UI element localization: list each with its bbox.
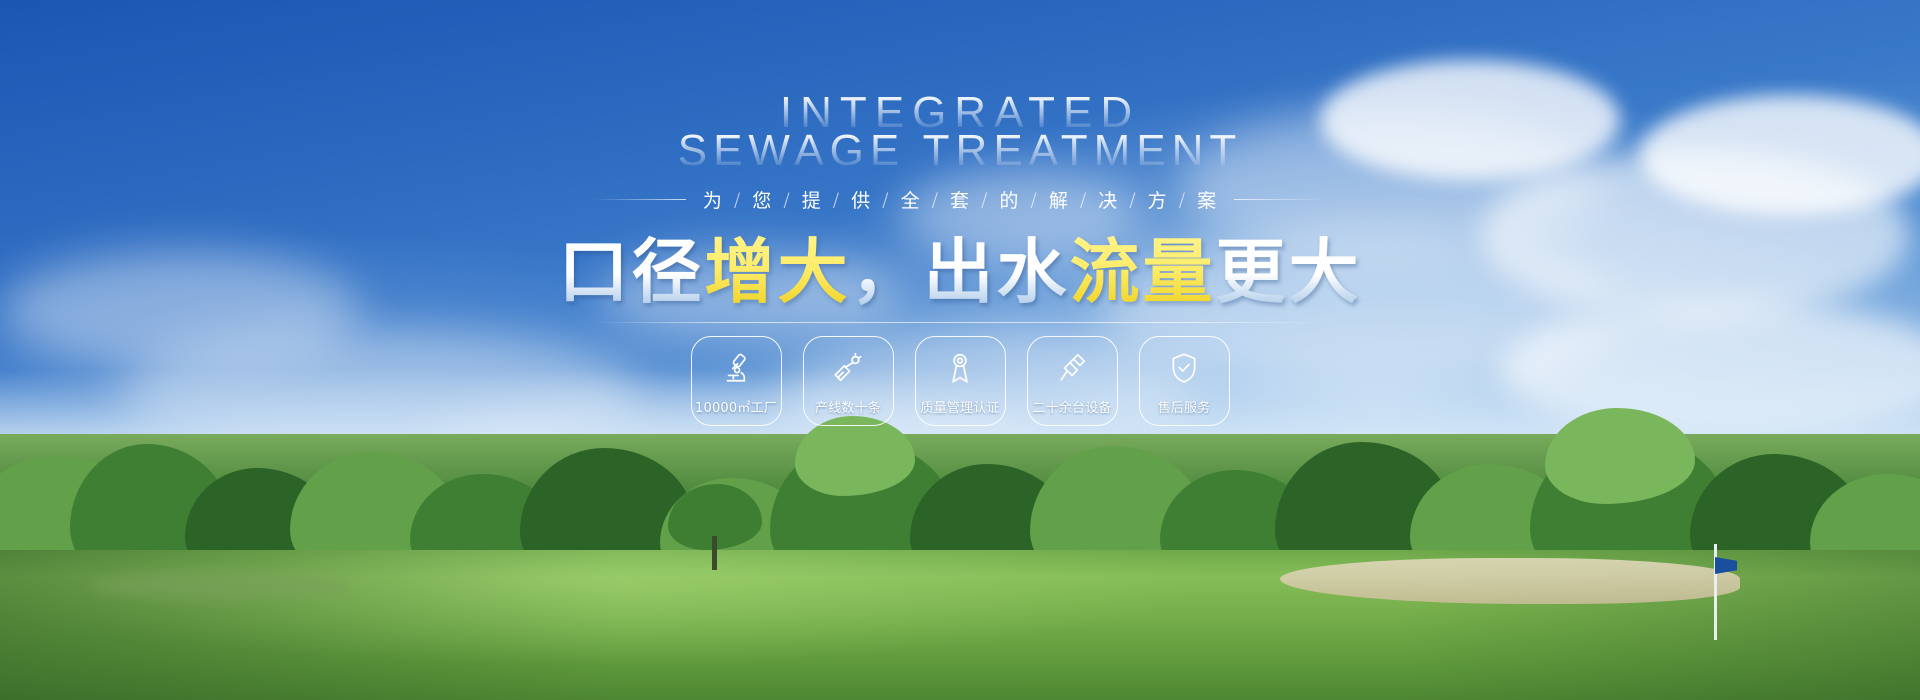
tagline-rule-left [594, 199, 686, 200]
headline-segment: 增大 [705, 235, 851, 309]
wrench-tool-icon [1055, 351, 1089, 385]
tagline-separator: / [981, 189, 988, 211]
tagline-char: 案 [1186, 186, 1228, 213]
hero-copy: INTEGRATED SEWAGE TREATMENT 为/您/提/供/全/套/… [0, 92, 1920, 323]
lone-tree-trunk [712, 536, 717, 570]
headline-segment: 出水 [924, 235, 1070, 309]
tagline-separator: / [734, 189, 741, 211]
headline-underline-rule [595, 322, 1325, 323]
feature-badge[interactable]: 质量管理认证 [915, 336, 1006, 426]
lawn-highlight [90, 572, 350, 600]
slash-tagline: 为/您/提/供/全/套/的/解/决/方/案 [594, 186, 1326, 213]
feature-badge[interactable]: 产线数十条 [803, 336, 894, 426]
feature-badge[interactable]: 10000㎡工厂 [691, 336, 782, 426]
tagline-separator: / [1129, 189, 1136, 211]
feature-badge-label: 二十余台设备 [1032, 397, 1111, 416]
tagline-separator: / [833, 189, 840, 211]
microscope-icon [719, 351, 753, 385]
tagline-char: 您 [741, 186, 783, 213]
slash-tagline-text: 为/您/提/供/全/套/的/解/决/方/案 [686, 186, 1234, 213]
page-title: 口径增大，出水流量更大 [559, 235, 1362, 309]
tagline-char: 方 [1137, 186, 1179, 213]
production-line-icon [831, 351, 865, 385]
tagline-char: 全 [890, 186, 932, 213]
tagline-char: 提 [791, 186, 833, 213]
certificate-medal-icon [943, 351, 977, 385]
tagline-char: 解 [1038, 186, 1080, 213]
lawn-shadow-left [0, 550, 620, 700]
tagline-char: 为 [692, 186, 734, 213]
tagline-rule-right [1234, 199, 1326, 200]
tagline-separator: / [1179, 189, 1186, 211]
hero-banner: INTEGRATED SEWAGE TREATMENT 为/您/提/供/全/套/… [0, 0, 1920, 700]
tagline-separator: / [1080, 189, 1087, 211]
feature-badge-label: 质量管理认证 [920, 397, 999, 416]
feature-badge-label: 产线数十条 [815, 397, 881, 416]
feature-badge-list: 10000㎡工厂产线数十条质量管理认证二十余台设备售后服务 [0, 336, 1920, 426]
tagline-char: 的 [988, 186, 1030, 213]
english-heading-line2: SEWAGE TREATMENT [678, 130, 1243, 172]
shield-check-icon [1167, 351, 1201, 385]
headline-segment: 口径 [559, 235, 705, 309]
tagline-char: 套 [939, 186, 981, 213]
feature-badge[interactable]: 售后服务 [1139, 336, 1230, 426]
tagline-char: 供 [840, 186, 882, 213]
feature-badge[interactable]: 二十余台设备 [1027, 336, 1118, 426]
tagline-separator: / [932, 189, 939, 211]
headline-segment: 流量 [1070, 235, 1216, 309]
tagline-separator: / [1030, 189, 1037, 211]
feature-badge-label: 10000㎡工厂 [695, 397, 777, 416]
tagline-separator: / [783, 189, 790, 211]
tagline-separator: / [882, 189, 889, 211]
headline-segment: 更大 [1216, 235, 1362, 309]
tagline-char: 决 [1087, 186, 1129, 213]
headline-segment: ， [851, 235, 924, 309]
feature-badge-label: 售后服务 [1158, 397, 1211, 416]
